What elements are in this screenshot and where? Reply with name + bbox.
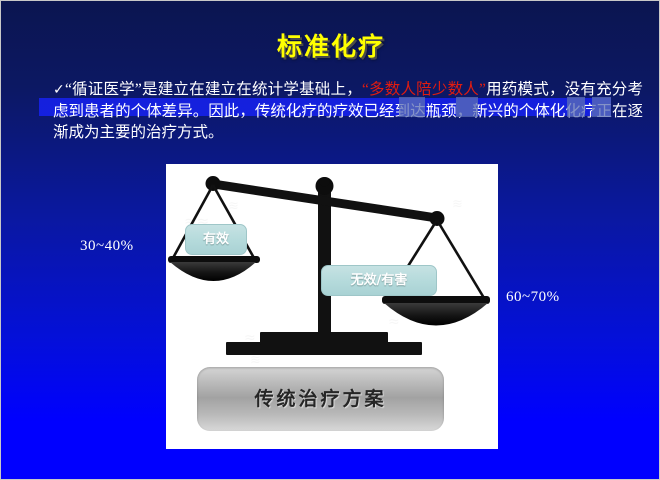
presentation-slide: 标准化疗 ✓“循证医学”是建立在建立在统计学基础上，“多数人陪少数人”用药模式，…	[0, 0, 660, 480]
left-pan	[168, 256, 260, 281]
svg-text:≈: ≈	[388, 314, 400, 330]
left-percentage-label: 30~40%	[80, 238, 134, 255]
svg-text:≋: ≋	[228, 199, 239, 214]
left-pan-label: 有效	[185, 224, 247, 255]
slide-title: 标准化疗	[1, 27, 660, 63]
body-highlight-phrase: “多数人陪少数人”	[362, 81, 486, 98]
right-percentage-label: 60~70%	[506, 289, 560, 306]
scale-column	[318, 188, 331, 338]
svg-text:≋: ≋	[250, 353, 261, 368]
scale-pivot	[316, 177, 334, 195]
balance-scale-image: ≈≈ ≋ ≈≈ ≋ ≈ ≈ ≋	[166, 164, 498, 449]
slide-body-text: ✓“循证医学”是建立在建立在统计学基础上，“多数人陪少数人”用药模式，没有充分考…	[53, 79, 643, 143]
body-segment-1: “循证医学”是建立在建立在统计学基础上，	[65, 81, 362, 98]
right-pan-label: 无效/有害	[321, 265, 437, 296]
checkmark-bullet-icon: ✓	[53, 82, 65, 98]
svg-text:≋: ≋	[452, 197, 463, 212]
base-plate-label: 传统治疗方案	[197, 367, 444, 431]
